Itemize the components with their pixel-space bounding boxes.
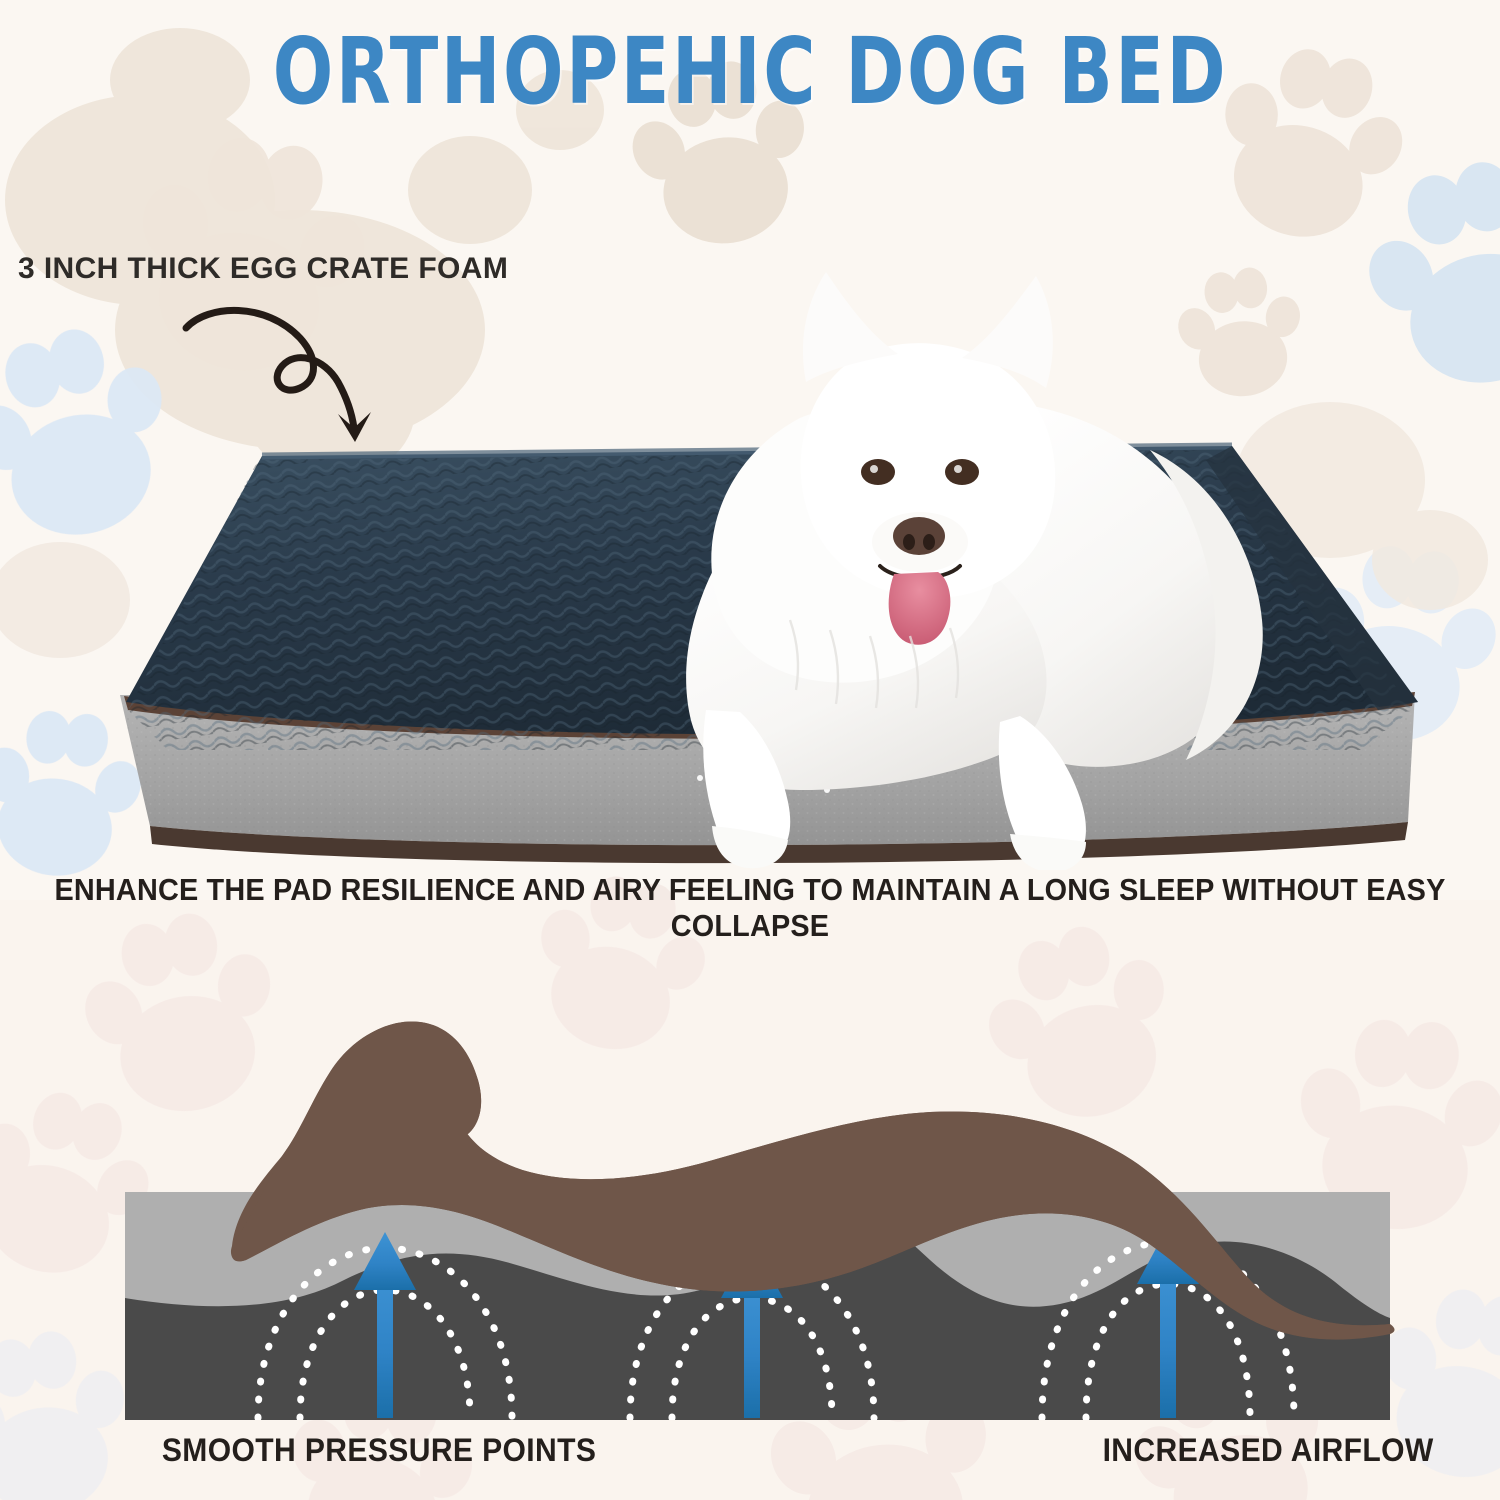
foam-cross-section-diagram (0, 960, 1500, 1420)
label-smooth-pressure-points: SMOOTH PRESSURE POINTS (162, 1432, 596, 1469)
page-title: ORTHOPEHIC DOG BED (272, 26, 1227, 118)
infographic-page: ORTHOPEHIC DOG BED 3 INCH THICK EGG CRAT… (0, 0, 1500, 1500)
center-caption: ENHANCE THE PAD RESILIENCE AND AIRY FEEL… (53, 872, 1448, 944)
dog-nose (893, 517, 945, 555)
curved-loop-arrow-icon (178, 296, 408, 461)
dog-eye-left (861, 459, 895, 485)
foam-callout-label: 3 INCH THICK EGG CRATE FOAM (18, 252, 508, 286)
page-title-container: ORTHOPEHIC DOG BED (0, 26, 1500, 118)
dog-eye-right (945, 459, 979, 485)
label-increased-airflow: INCREASED AIRFLOW (1103, 1432, 1434, 1469)
